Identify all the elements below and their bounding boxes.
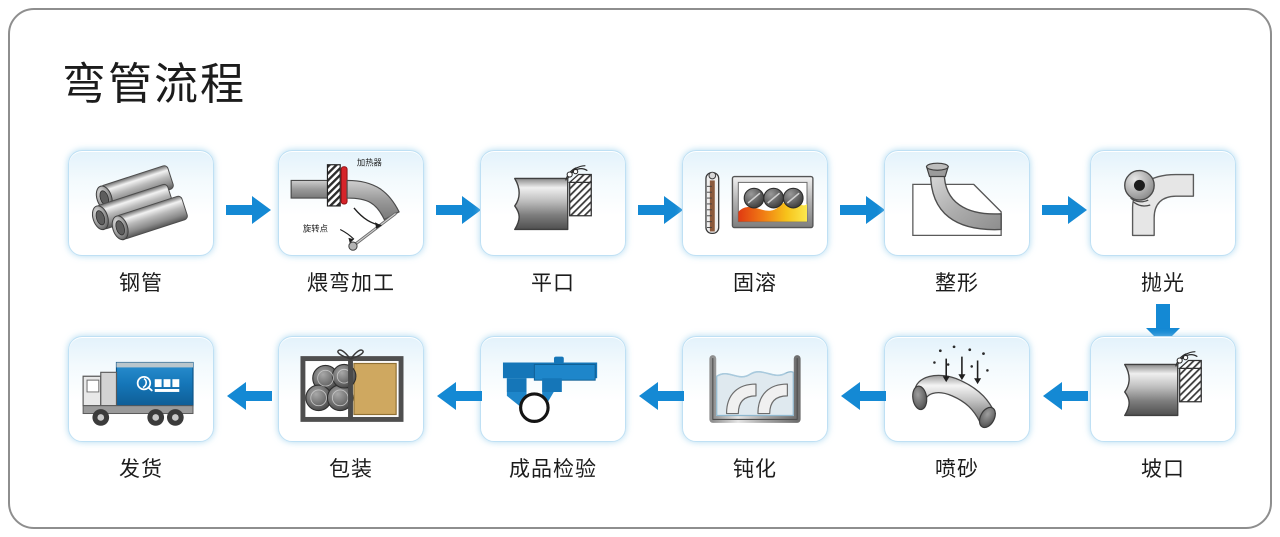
pipe-facing-icon <box>481 151 625 255</box>
arrow-right-icon <box>436 195 482 225</box>
step-card[interactable] <box>68 336 214 442</box>
arrow-left-icon <box>1042 381 1088 411</box>
step-card[interactable] <box>278 336 424 442</box>
arrow-right-icon <box>638 195 684 225</box>
flow-step-facing[interactable]: 平口 <box>480 150 626 297</box>
packing-crate-icon <box>279 337 423 441</box>
flow-step-sandblasting[interactable]: 喷砂 <box>884 336 1030 483</box>
flow-step-packing[interactable]: 包装 <box>278 336 424 483</box>
flow-step-polishing[interactable]: 抛光 <box>1090 150 1236 297</box>
arrow-left-icon <box>638 381 684 411</box>
heater-caption: 加热器 <box>357 158 383 168</box>
diagram-frame: 弯管流程 <box>8 8 1272 529</box>
induction-bending-icon: 加热器 旋转点 <box>279 151 423 255</box>
steel-pipes-icon <box>69 151 213 255</box>
sandblasting-icon <box>885 337 1029 441</box>
flow-step-solution-treatment[interactable]: 固溶 <box>682 150 828 297</box>
step-label: 煨弯加工 <box>278 267 424 297</box>
arrow-left-icon <box>436 381 482 411</box>
step-label: 成品检验 <box>480 453 626 483</box>
step-card[interactable] <box>1090 150 1236 256</box>
passivation-tank-icon <box>683 337 827 441</box>
step-card[interactable] <box>68 150 214 256</box>
flow-step-induction-bending[interactable]: 加热器 旋转点 煨弯加工 <box>278 150 424 297</box>
step-label: 发货 <box>68 453 214 483</box>
arrow-right-icon <box>840 195 886 225</box>
step-label: 固溶 <box>682 267 828 297</box>
sizing-die-icon <box>885 151 1029 255</box>
arrow-right-icon <box>1042 195 1088 225</box>
step-label: 钝化 <box>682 453 828 483</box>
step-card[interactable] <box>1090 336 1236 442</box>
flow-step-passivation[interactable]: 钝化 <box>682 336 828 483</box>
flow-step-sizing[interactable]: 整形 <box>884 150 1030 297</box>
step-card[interactable] <box>884 336 1030 442</box>
arrow-left-icon <box>226 381 272 411</box>
pivot-caption: 旋转点 <box>303 223 328 233</box>
step-label: 钢管 <box>68 267 214 297</box>
flow-step-steel-pipes[interactable]: 钢管 <box>68 150 214 297</box>
step-card[interactable] <box>480 150 626 256</box>
page-title: 弯管流程 <box>62 48 246 112</box>
solution-furnace-icon <box>683 151 827 255</box>
flow-step-beveling[interactable]: 坡口 <box>1090 336 1236 483</box>
step-card[interactable] <box>884 150 1030 256</box>
flow-step-shipping[interactable]: 发货 <box>68 336 214 483</box>
step-label: 包装 <box>278 453 424 483</box>
delivery-truck-icon <box>69 337 213 441</box>
arrow-left-icon <box>840 381 886 411</box>
step-card[interactable] <box>682 150 828 256</box>
polishing-wheel-icon <box>1091 151 1235 255</box>
step-label: 坡口 <box>1090 453 1236 483</box>
step-label: 抛光 <box>1090 267 1236 297</box>
beveling-icon <box>1091 337 1235 441</box>
step-label: 喷砂 <box>884 453 1030 483</box>
arrow-right-icon <box>226 195 272 225</box>
step-card[interactable]: 加热器 旋转点 <box>278 150 424 256</box>
flow-step-inspection[interactable]: 成品检验 <box>480 336 626 483</box>
step-card[interactable] <box>480 336 626 442</box>
caliper-inspection-icon <box>481 337 625 441</box>
step-card[interactable] <box>682 336 828 442</box>
step-label: 整形 <box>884 267 1030 297</box>
step-label: 平口 <box>480 267 626 297</box>
